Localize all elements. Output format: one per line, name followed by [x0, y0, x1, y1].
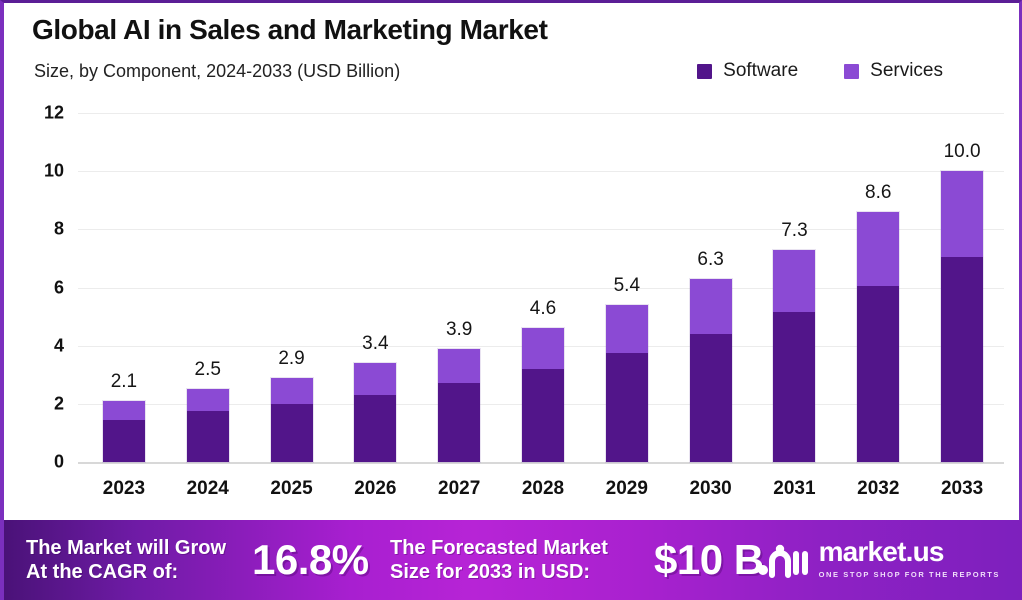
bar-segment-software[interactable]	[187, 411, 229, 462]
bar-value-label: 3.9	[446, 319, 472, 341]
bar-segment-services[interactable]	[690, 279, 732, 334]
legend-label: Software	[723, 60, 798, 82]
stacked-bar[interactable]	[438, 349, 480, 462]
bar-value-label: 2.5	[195, 359, 221, 381]
x-axis-tick-label: 2025	[270, 478, 312, 500]
bar-segment-software[interactable]	[354, 395, 396, 462]
y-axis: 024681012	[4, 95, 82, 518]
market-us-logo[interactable]: market.us ONE STOP SHOP FOR THE REPORTS	[755, 538, 1000, 579]
logo-tagline: ONE STOP SHOP FOR THE REPORTS	[819, 570, 1000, 579]
stacked-bar[interactable]	[857, 212, 899, 462]
x-axis-tick-label: 2023	[103, 478, 145, 500]
footer-banner: The Market will Grow At the CAGR of: 16.…	[4, 520, 1022, 600]
bar-value-label: 2.9	[278, 348, 304, 370]
logo-wordmark: market.us	[819, 538, 1000, 566]
bar-segment-services[interactable]	[857, 212, 899, 286]
stacked-bar[interactable]	[354, 363, 396, 462]
bar-value-label: 3.4	[362, 333, 388, 355]
legend-item-services[interactable]: Services	[844, 60, 943, 82]
bar-segment-services[interactable]	[271, 378, 313, 404]
y-axis-tick-label: 10	[44, 161, 64, 182]
bar-segment-software[interactable]	[522, 369, 564, 462]
cagr-caption: The Market will Grow At the CAGR of:	[26, 536, 226, 585]
bar-segment-software[interactable]	[857, 286, 899, 462]
bar-group-2033[interactable]: 10.02033	[920, 103, 1004, 462]
bar-value-label: 7.3	[781, 220, 807, 242]
bar-segment-services[interactable]	[187, 389, 229, 411]
x-axis-tick-label: 2028	[522, 478, 564, 500]
cagr-value-block: 16.8%	[252, 520, 369, 600]
forecast-value-block: $10 B	[654, 520, 764, 600]
bar-segment-software[interactable]	[271, 404, 313, 462]
bar-group-2025[interactable]: 2.92025	[250, 103, 334, 462]
bar-segment-services[interactable]	[522, 328, 564, 369]
bar-segment-software[interactable]	[438, 383, 480, 462]
stacked-bar[interactable]	[690, 279, 732, 462]
stacked-bar[interactable]	[187, 389, 229, 462]
bar-segment-services[interactable]	[354, 363, 396, 395]
bar-value-label: 10.0	[944, 141, 981, 163]
y-axis-tick-label: 6	[54, 277, 64, 298]
bar-group-2031[interactable]: 7.32031	[753, 103, 837, 462]
stacked-bar[interactable]	[103, 401, 145, 462]
bar-group-2026[interactable]: 3.42026	[333, 103, 417, 462]
x-axis-tick-label: 2027	[438, 478, 480, 500]
stacked-bar[interactable]	[606, 305, 648, 462]
bar-value-label: 4.6	[530, 298, 556, 320]
x-axis-tick-label: 2031	[773, 478, 815, 500]
legend-swatch-icon	[697, 64, 712, 79]
bar-group-2027[interactable]: 3.92027	[417, 103, 501, 462]
bar-segment-services[interactable]	[438, 349, 480, 384]
infographic-root: Global AI in Sales and Marketing Market …	[0, 0, 1022, 600]
bar-group-2028[interactable]: 4.62028	[501, 103, 585, 462]
bar-group-2029[interactable]: 5.42029	[585, 103, 669, 462]
x-axis-tick-label: 2024	[187, 478, 229, 500]
bar-group-2030[interactable]: 6.32030	[669, 103, 753, 462]
bar-group-2023[interactable]: 2.12023	[82, 103, 166, 462]
chart-subtitle: Size, by Component, 2024-2033 (USD Billi…	[34, 61, 400, 82]
page-title: Global AI in Sales and Marketing Market	[32, 14, 548, 46]
forecast-caption: The Forecasted Market Size for 2033 in U…	[390, 536, 608, 585]
chart-plot-area: 024681012 2.120232.520242.920253.420263.…	[4, 95, 1022, 518]
bar-segment-services[interactable]	[103, 401, 145, 420]
legend-swatch-icon	[844, 64, 859, 79]
y-axis-tick-label: 0	[54, 452, 64, 473]
bar-group-2024[interactable]: 2.52024	[166, 103, 250, 462]
stacked-bar[interactable]	[271, 378, 313, 462]
cagr-value: 16.8%	[252, 536, 369, 584]
y-axis-tick-label: 8	[54, 219, 64, 240]
market-us-logo-icon	[755, 539, 809, 579]
forecast-block: The Forecasted Market Size for 2033 in U…	[390, 520, 608, 600]
bar-segment-services[interactable]	[606, 305, 648, 353]
bar-segment-software[interactable]	[773, 312, 815, 462]
bar-value-label: 8.6	[865, 182, 891, 204]
x-axis-tick-label: 2029	[606, 478, 648, 500]
bar-segment-software[interactable]	[690, 334, 732, 462]
legend-label: Services	[870, 60, 943, 82]
bar-segment-software[interactable]	[103, 420, 145, 462]
bar-segment-software[interactable]	[606, 353, 648, 462]
bar-segment-services[interactable]	[941, 171, 983, 257]
x-axis-tick-label: 2033	[941, 478, 983, 500]
chart-header: Global AI in Sales and Marketing Market …	[4, 3, 1019, 95]
chart-legend: Software Services	[697, 60, 943, 82]
bar-value-label: 5.4	[614, 275, 640, 297]
bar-value-label: 2.1	[111, 371, 137, 393]
y-axis-tick-label: 4	[54, 335, 64, 356]
bar-value-label: 6.3	[697, 249, 723, 271]
stacked-bar[interactable]	[941, 171, 983, 462]
x-axis-tick-label: 2026	[354, 478, 396, 500]
bar-segment-software[interactable]	[941, 257, 983, 462]
cagr-block: The Market will Grow At the CAGR of:	[26, 520, 226, 600]
legend-item-software[interactable]: Software	[697, 60, 798, 82]
x-axis-tick-label: 2030	[689, 478, 731, 500]
forecast-value: $10 B	[654, 536, 764, 584]
x-axis-tick-label: 2032	[857, 478, 899, 500]
stacked-bar[interactable]	[522, 328, 564, 462]
bar-group-2032[interactable]: 8.62032	[836, 103, 920, 462]
y-axis-tick-label: 12	[44, 103, 64, 124]
bar-segment-services[interactable]	[773, 250, 815, 313]
y-axis-tick-label: 2	[54, 393, 64, 414]
bar-series-container: 2.120232.520242.920253.420263.920274.620…	[82, 95, 1004, 518]
stacked-bar[interactable]	[773, 250, 815, 462]
